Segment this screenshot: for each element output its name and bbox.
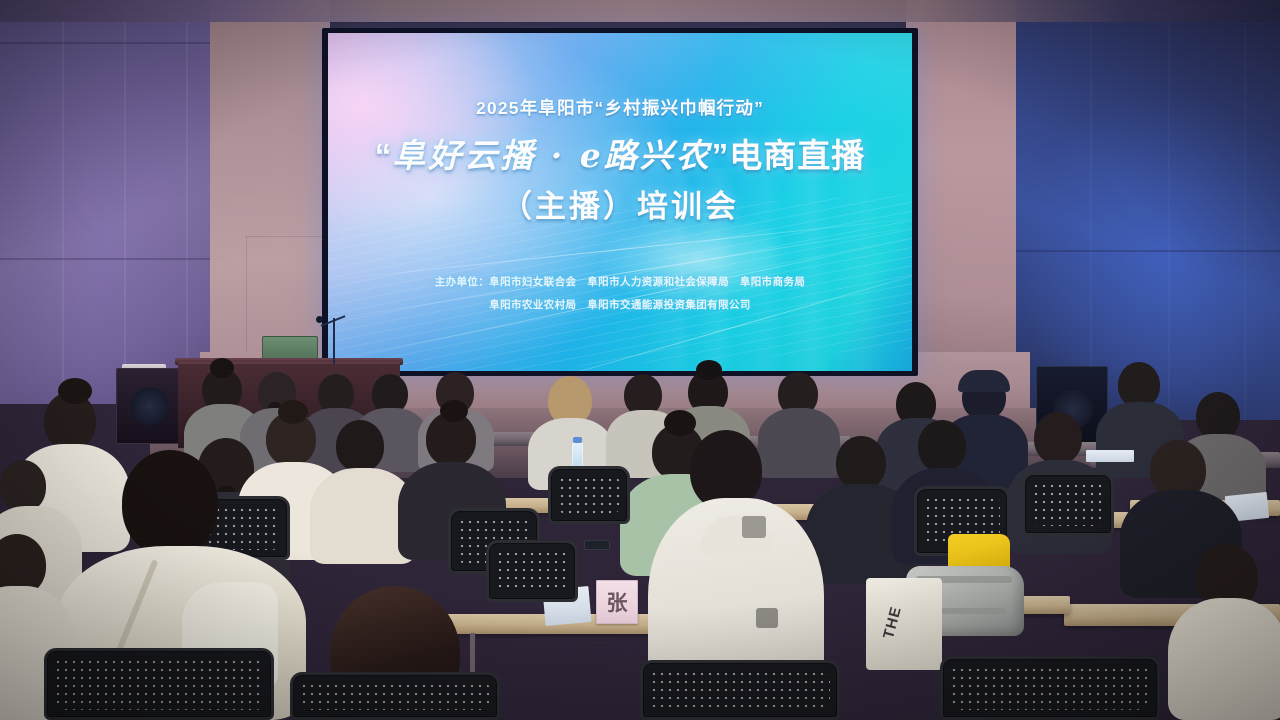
wall-seam	[1168, 0, 1170, 420]
head	[836, 436, 886, 490]
head	[336, 420, 384, 472]
speaker-cabinet-left	[116, 368, 182, 444]
head	[918, 420, 966, 472]
microphone-icon	[316, 316, 323, 323]
hair-bun	[664, 410, 696, 436]
hair-bun	[58, 378, 92, 404]
chair-mesh-back	[300, 682, 490, 710]
presenter-laptop[interactable]	[262, 336, 318, 360]
wall-seam-horizontal	[0, 258, 236, 260]
chair-mesh-back	[950, 666, 1150, 710]
quote-close: ”	[712, 137, 730, 174]
chair[interactable]	[44, 648, 274, 720]
chair-mesh-back	[558, 476, 620, 514]
hair-bun	[278, 400, 308, 424]
wall-seam	[186, 0, 188, 404]
chair[interactable]	[486, 540, 578, 602]
chair-mesh-back	[54, 658, 264, 710]
slide-organizers-line2: 阜阳市农业农村局 阜阳市交通能源投资集团有限公司	[489, 297, 751, 312]
door-edge	[246, 236, 330, 237]
tote-bag[interactable]: THE	[866, 578, 942, 670]
slide-title-tail: 电商直播	[729, 137, 865, 174]
head	[0, 460, 46, 512]
pink-column-right	[906, 0, 1022, 392]
wall-seam	[62, 0, 64, 404]
cap-icon	[958, 370, 1010, 392]
head	[1034, 412, 1082, 464]
wall-seam	[1244, 0, 1246, 420]
chair[interactable]	[940, 656, 1160, 720]
smartphone[interactable]	[584, 540, 610, 550]
slide-organizers-line1: 主办单位：阜阳市妇女联合会 阜阳市人力资源和社会保障局 阜阳市商务局	[435, 274, 806, 289]
hair-bun	[440, 400, 468, 422]
slide-cursive-title: 阜好云播 · e路兴农	[392, 136, 711, 175]
torso	[758, 408, 840, 478]
chair[interactable]	[640, 660, 840, 720]
chair[interactable]	[1022, 472, 1114, 536]
hoodie-logo	[742, 516, 766, 538]
left-wall-light-wash	[0, 0, 236, 404]
hair-bun	[210, 358, 234, 378]
projection-screen[interactable]: 2025年阜阳市“乡村振兴巾帼行动” “阜好云播 · e路兴农”电商直播 （主播…	[328, 33, 912, 371]
torso	[1168, 598, 1280, 720]
screenshot-root: 2025年阜阳市“乡村振兴巾帼行动” “阜好云播 · e路兴农”电商直播 （主播…	[0, 0, 1280, 720]
chair-mesh-back	[1032, 482, 1104, 526]
chair-mesh-back	[496, 550, 568, 592]
microphone-stand	[333, 318, 335, 364]
tote-bag-text: THE	[880, 604, 905, 640]
wall-seam	[124, 0, 126, 404]
chair-mesh-back	[650, 670, 830, 710]
slide-subtitle-line: 2025年阜阳市“乡村振兴巾帼行动”	[476, 95, 764, 120]
right-wall-light-wash	[1016, 30, 1280, 420]
wall-seam-horizontal	[1016, 250, 1280, 252]
wall-seam	[1090, 0, 1092, 420]
name-card: 张	[596, 580, 638, 624]
ceiling-strip	[0, 0, 1280, 22]
slide-text-block: 2025年阜阳市“乡村振兴巾帼行动” “阜好云播 · e路兴农”电商直播 （主播…	[328, 33, 912, 371]
wall-seam-horizontal	[0, 42, 236, 44]
head	[122, 450, 218, 556]
chair[interactable]	[548, 466, 630, 524]
bottle-cap	[573, 437, 582, 443]
quote-open: “	[375, 137, 393, 174]
chair[interactable]	[290, 672, 500, 720]
slide-title-line3: （主播）培训会	[501, 181, 739, 226]
paper-sheet	[1086, 450, 1134, 462]
slide-main-title: “阜好云播 · e路兴农”电商直播	[375, 129, 865, 177]
hoodie-logo	[756, 608, 778, 628]
head	[1196, 392, 1240, 440]
speaker-cone	[131, 387, 169, 425]
hair-bun	[696, 360, 722, 380]
